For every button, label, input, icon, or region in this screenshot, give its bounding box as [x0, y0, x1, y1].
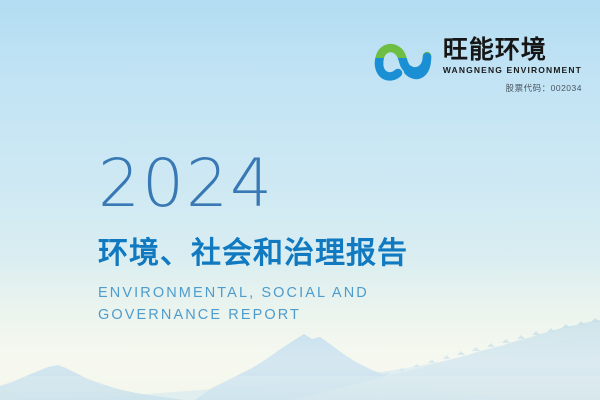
logo-company-en: WANGNENG ENVIRONMENT [443, 65, 582, 76]
logo-wordmark: 旺能环境 WANGNENG ENVIRONMENT 股票代码：002034 [443, 36, 582, 94]
logo-stock-code: 股票代码：002034 [506, 82, 582, 94]
report-year: 2024 [98, 150, 408, 218]
report-title-cn: 环境、社会和治理报告 [98, 236, 408, 272]
wangneng-infinity-mark-icon [372, 38, 434, 82]
company-logo: 旺能环境 WANGNENG ENVIRONMENT 股票代码：002034 [372, 36, 582, 94]
logo-company-cn: 旺能环境 [443, 36, 547, 64]
foreground-mist [0, 376, 600, 400]
cover-title-block: 2024 环境、社会和治理报告 ENVIRONMENTAL, SOCIAL AN… [98, 150, 408, 326]
report-title-en-line1: ENVIRONMENTAL, SOCIAL AND [98, 282, 408, 304]
report-title-en-line2: GOVERNANCE REPORT [98, 304, 408, 326]
esg-report-cover: 旺能环境 WANGNENG ENVIRONMENT 股票代码：002034 20… [0, 0, 600, 400]
